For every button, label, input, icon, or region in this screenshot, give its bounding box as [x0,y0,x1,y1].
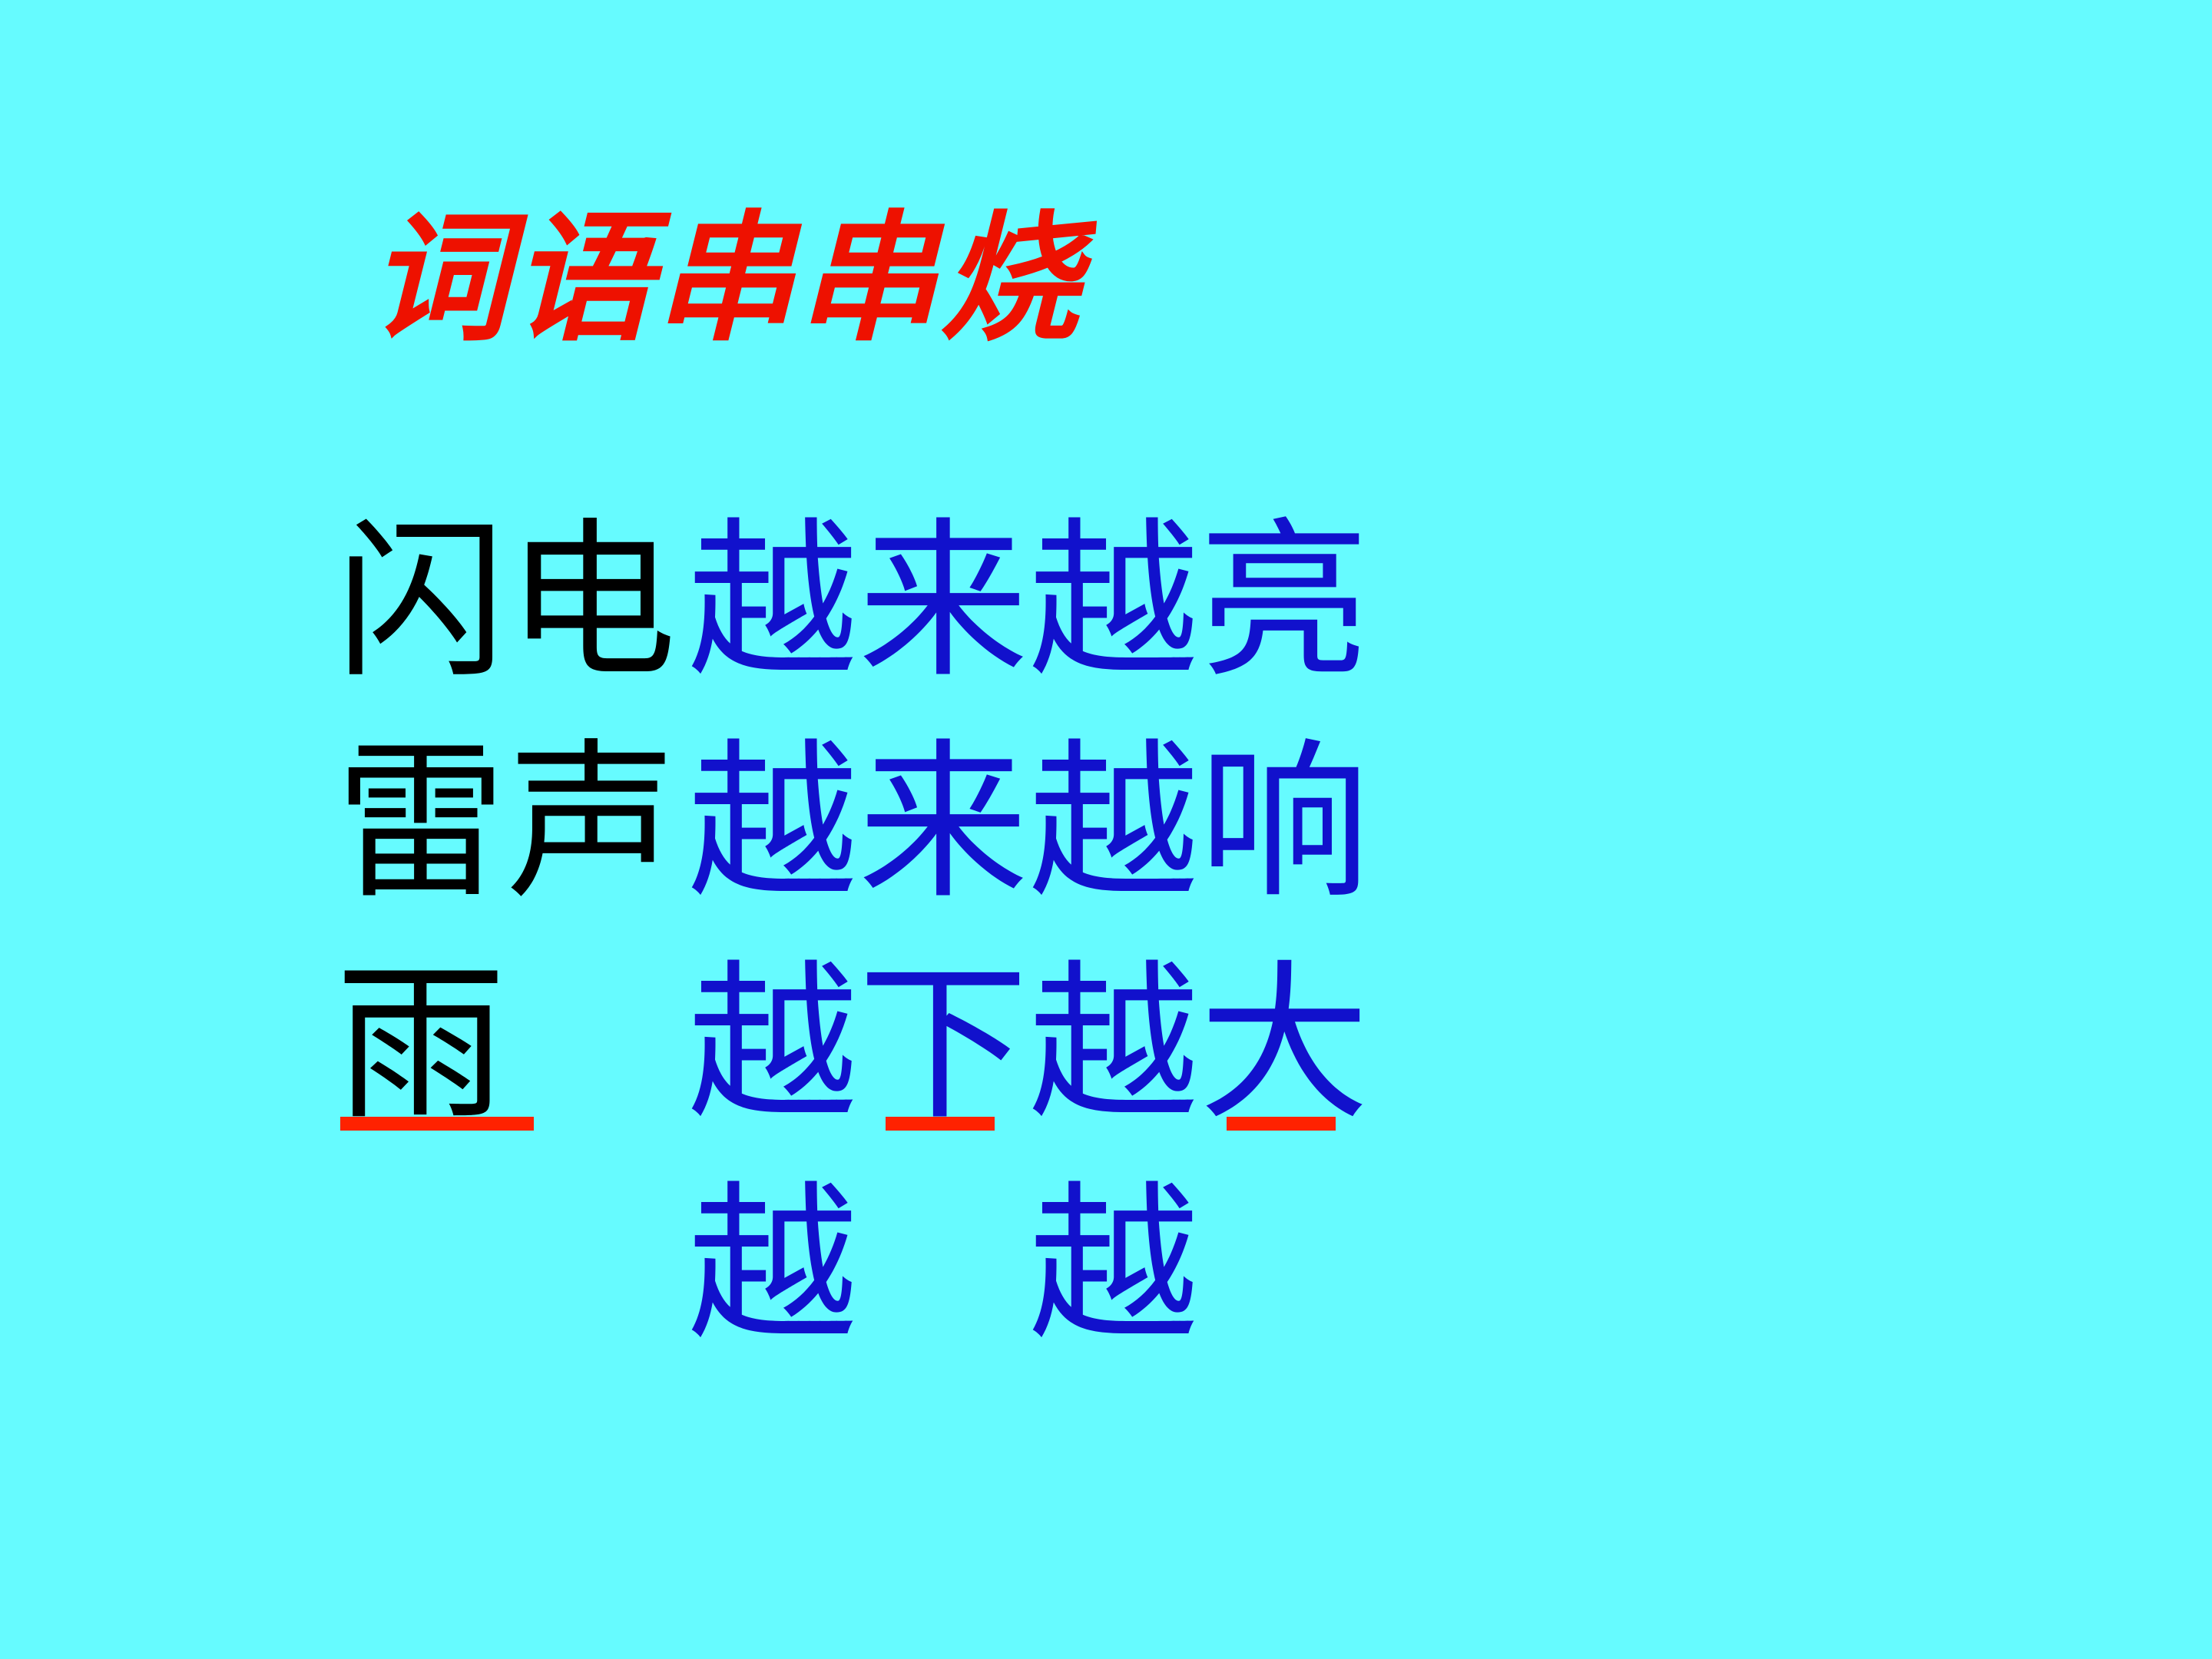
phrase-subject: 闪电 [336,492,687,713]
slide-canvas: 词语串串烧 闪电越来越亮 雷声越来越响 雨越下越大 越越 [0,0,2212,1659]
blank-underline-3 [1227,1117,1336,1131]
page-title: 词语串串烧 [0,209,2212,349]
phrase-list: 闪电越来越亮 雷声越来越响 雨越下越大 越越 [336,492,1872,1386]
phrase-subject: 雷声 [336,713,687,934]
pattern-char-2: 越 [1028,1155,1199,1376]
phrase-predicate: 越来越亮 [687,492,1369,713]
phrase-row-3: 雨越下越大 [336,934,1872,1155]
phrase-row-1: 闪电越来越亮 [336,492,1872,713]
blank-underline-1 [340,1117,534,1131]
pattern-char-1: 越 [687,1155,858,1376]
fill-in-the-blank-row: 越越 [336,1155,1872,1386]
phrase-predicate: 越来越响 [687,713,1369,934]
blank-underline-2 [886,1117,995,1131]
phrase-row-2: 雷声越来越响 [336,713,1872,934]
